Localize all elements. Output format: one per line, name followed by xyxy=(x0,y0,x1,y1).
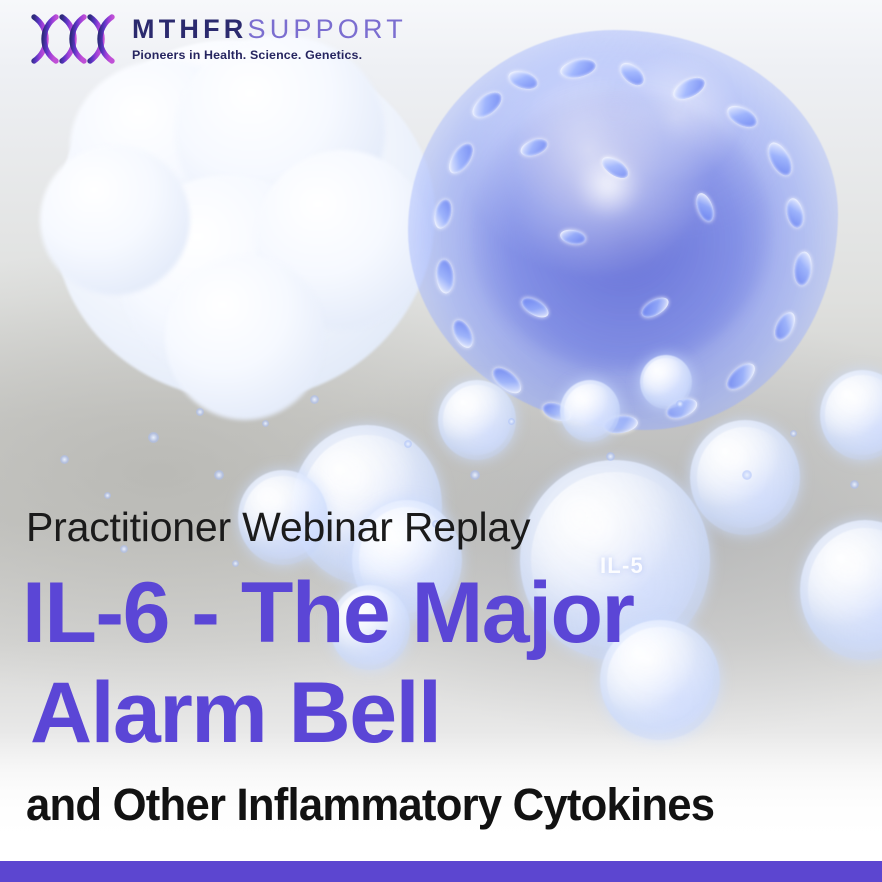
light-speck xyxy=(742,470,752,480)
light-speck xyxy=(850,480,859,489)
brand-name-secondary: SUPPORT xyxy=(247,16,406,43)
light-speck xyxy=(606,452,615,461)
subtitle-text: and Other Inflammatory Cytokines xyxy=(26,782,714,827)
brand-logo[interactable]: MTHFR SUPPORT Pioneers in Health. Scienc… xyxy=(28,12,407,66)
cell-lobe xyxy=(165,255,325,420)
light-speck xyxy=(104,492,111,499)
brand-name-row: MTHFR SUPPORT xyxy=(132,16,407,43)
light-speck xyxy=(404,440,412,448)
title-line-2: Alarm Bell xyxy=(30,670,440,756)
title-line-1: IL-6 - The Major xyxy=(22,570,633,656)
cytokine-cluster xyxy=(438,380,516,460)
webinar-poster: MTHFR SUPPORT Pioneers in Health. Scienc… xyxy=(0,0,882,882)
light-speck xyxy=(196,408,204,416)
light-speck xyxy=(148,432,159,443)
cell-nucleus-glow xyxy=(470,90,770,370)
light-speck xyxy=(60,455,69,464)
footer-accent-bar xyxy=(0,861,882,882)
light-speck xyxy=(470,470,480,480)
brand-name-primary: MTHFR xyxy=(132,16,247,43)
light-speck xyxy=(508,418,515,425)
brand-tagline: Pioneers in Health. Science. Genetics. xyxy=(132,49,407,61)
light-speck xyxy=(214,470,224,480)
light-speck xyxy=(262,420,269,427)
light-speck xyxy=(790,430,797,437)
eyebrow-text: Practitioner Webinar Replay xyxy=(26,507,530,548)
cytokine-cluster xyxy=(640,355,692,409)
brand-wordmark: MTHFR SUPPORT Pioneers in Health. Scienc… xyxy=(132,16,407,61)
light-speck xyxy=(676,400,684,408)
cell-lobe xyxy=(40,145,190,295)
light-speck xyxy=(310,395,319,404)
dna-helix-icon xyxy=(28,12,120,66)
cytokine-cluster xyxy=(560,380,620,442)
